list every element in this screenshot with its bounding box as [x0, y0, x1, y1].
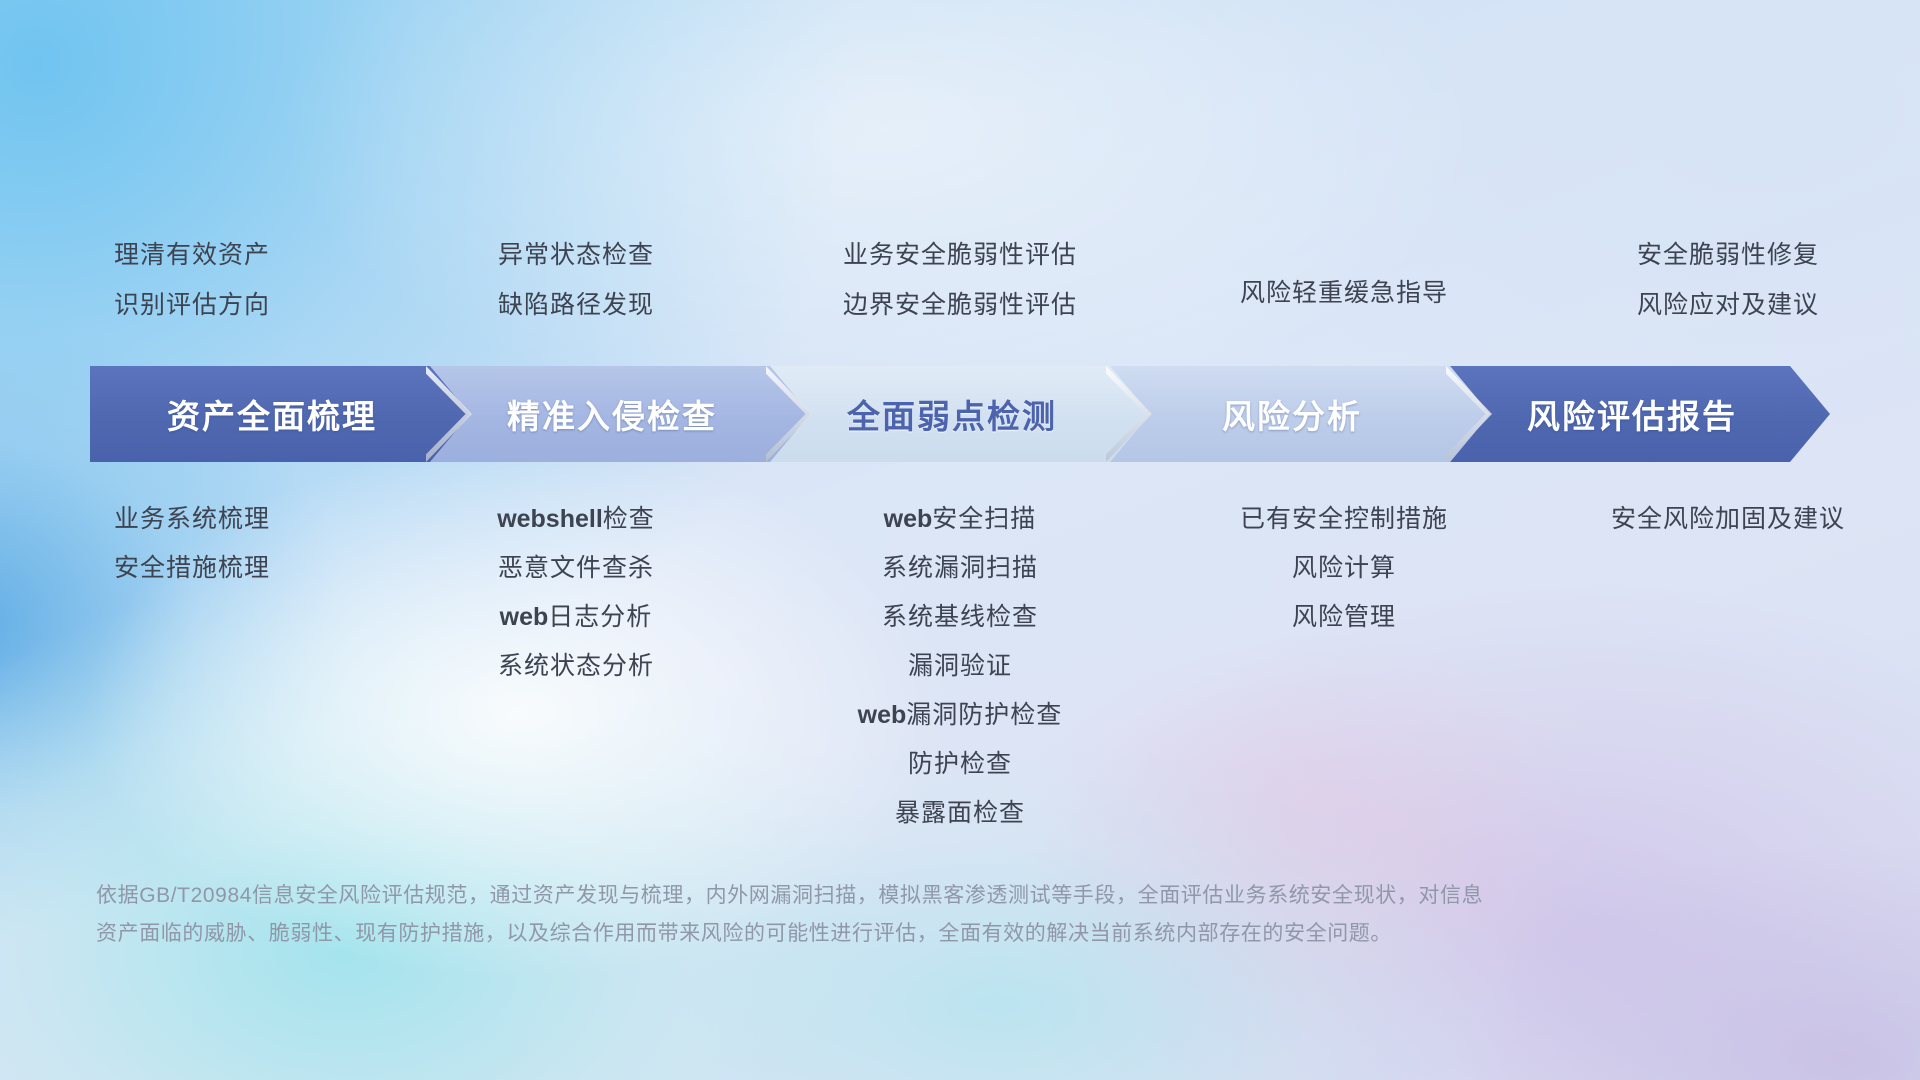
bottom-item-label: 日志分析: [548, 603, 652, 631]
bottom-item-label: 漏洞验证: [908, 652, 1012, 680]
bottom-item-label: 漏洞防护检查: [906, 701, 1062, 729]
chevron-label: 全面弱点检测: [847, 390, 1057, 438]
top-item: 安全脆弱性修复: [1637, 230, 1819, 280]
footer-line-2: 资产面临的威胁、脆弱性、现有防护措施，以及综合作用而带来风险的可能性进行评估，全…: [96, 915, 1616, 953]
process-chevron-strip: 资产全面梳理精准入侵检查全面弱点检测风险分析风险评估报告: [90, 366, 1830, 462]
top-item: 风险轻重缓急指导: [1240, 268, 1448, 318]
bottom-item-label: 风险计算: [1292, 554, 1396, 582]
top-item: 异常状态检查: [498, 230, 654, 280]
bottom-item: 系统基线检查: [882, 593, 1038, 642]
bottom-item: 风险计算: [1292, 544, 1396, 593]
top-item: 缺陷路径发现: [498, 280, 654, 330]
bottom-item-label: 系统基线检查: [882, 603, 1038, 631]
bottom-column-risk-analysis: 已有安全控制措施风险计算风险管理: [1152, 495, 1536, 838]
bottom-item-prefix: web: [858, 701, 907, 729]
bottom-item-label: 已有安全控制措施: [1240, 505, 1448, 533]
top-item: 风险应对及建议: [1637, 280, 1819, 330]
bottom-item: web漏洞防护检查: [858, 691, 1063, 740]
bottom-item: web日志分析: [500, 593, 653, 642]
bottom-item-label: 防护检查: [908, 750, 1012, 778]
bottom-item: 安全风险加固及建议: [1611, 495, 1845, 544]
chevron-assessment-report[interactable]: 风险评估报告: [1450, 366, 1830, 462]
bottom-item: 已有安全控制措施: [1240, 495, 1448, 544]
bottom-item-label: 安全扫描: [932, 505, 1036, 533]
bottom-column-asset-inventory: 业务系统梳理安全措施梳理: [0, 495, 384, 838]
bottom-item-label: 风险管理: [1292, 603, 1396, 631]
bottom-item: 漏洞验证: [908, 642, 1012, 691]
top-column-intrusion-check: 异常状态检查缺陷路径发现: [384, 230, 768, 330]
top-column-asset-inventory: 理清有效资产识别评估方向: [0, 230, 384, 330]
bottom-item-label: 业务系统梳理: [114, 505, 270, 533]
bottom-item-label: 安全措施梳理: [114, 554, 270, 582]
top-column-assessment-report: 安全脆弱性修复风险应对及建议: [1536, 230, 1920, 330]
chevron-intrusion-check[interactable]: 精准入侵检查: [430, 366, 810, 462]
bottom-item: 防护检查: [908, 740, 1012, 789]
bottom-item-label: 系统状态分析: [498, 652, 654, 680]
chevron-risk-analysis[interactable]: 风险分析: [1110, 366, 1490, 462]
chevron-label: 风险分析: [1222, 390, 1362, 438]
chevron-label: 资产全面梳理: [167, 390, 377, 438]
bottom-column-assessment-report: 安全风险加固及建议: [1536, 495, 1920, 838]
bottom-activities-band: 业务系统梳理安全措施梳理webshell检查恶意文件查杀web日志分析系统状态分…: [0, 495, 1920, 838]
bottom-item-prefix: web: [884, 505, 933, 533]
footer-description: 依据GB/T20984信息安全风险评估规范，通过资产发现与梳理，内外网漏洞扫描，…: [96, 877, 1616, 953]
chevron-label: 精准入侵检查: [507, 390, 717, 438]
bottom-item-label: 检查: [603, 505, 655, 533]
bottom-item: 暴露面检查: [895, 789, 1025, 838]
top-column-weakness-detection: 业务安全脆弱性评估边界安全脆弱性评估: [768, 230, 1152, 330]
bottom-item: 风险管理: [1292, 593, 1396, 642]
bottom-item: 安全措施梳理: [114, 544, 270, 593]
chevron-asset-inventory[interactable]: 资产全面梳理: [90, 366, 470, 462]
bottom-column-intrusion-check: webshell检查恶意文件查杀web日志分析系统状态分析: [384, 495, 768, 838]
bottom-item: 业务系统梳理: [114, 495, 270, 544]
top-outcomes-band: 理清有效资产识别评估方向异常状态检查缺陷路径发现业务安全脆弱性评估边界安全脆弱性…: [0, 230, 1920, 330]
bottom-item: 恶意文件查杀: [498, 544, 654, 593]
top-column-risk-analysis: 风险轻重缓急指导: [1152, 230, 1536, 330]
top-item: 理清有效资产: [114, 230, 270, 280]
top-item: 边界安全脆弱性评估: [843, 280, 1077, 330]
top-item: 业务安全脆弱性评估: [843, 230, 1077, 280]
bottom-item-label: 暴露面检查: [895, 799, 1025, 827]
bottom-column-weakness-detection: web安全扫描系统漏洞扫描系统基线检查漏洞验证web漏洞防护检查防护检查暴露面检…: [768, 495, 1152, 838]
footer-line-1: 依据GB/T20984信息安全风险评估规范，通过资产发现与梳理，内外网漏洞扫描，…: [96, 877, 1616, 915]
bottom-item-label: 恶意文件查杀: [498, 554, 654, 582]
chevron-weakness-detection[interactable]: 全面弱点检测: [770, 366, 1150, 462]
bottom-item-prefix: web: [500, 603, 549, 631]
bottom-item: 系统漏洞扫描: [882, 544, 1038, 593]
bottom-item-label: 安全风险加固及建议: [1611, 505, 1845, 533]
bottom-item: 系统状态分析: [498, 642, 654, 691]
bottom-item-prefix: webshell: [497, 505, 603, 533]
chevron-label: 风险评估报告: [1527, 390, 1737, 438]
bottom-item-label: 系统漏洞扫描: [882, 554, 1038, 582]
bottom-item: web安全扫描: [884, 495, 1037, 544]
top-item: 识别评估方向: [114, 280, 270, 330]
bottom-item: webshell检查: [497, 495, 655, 544]
